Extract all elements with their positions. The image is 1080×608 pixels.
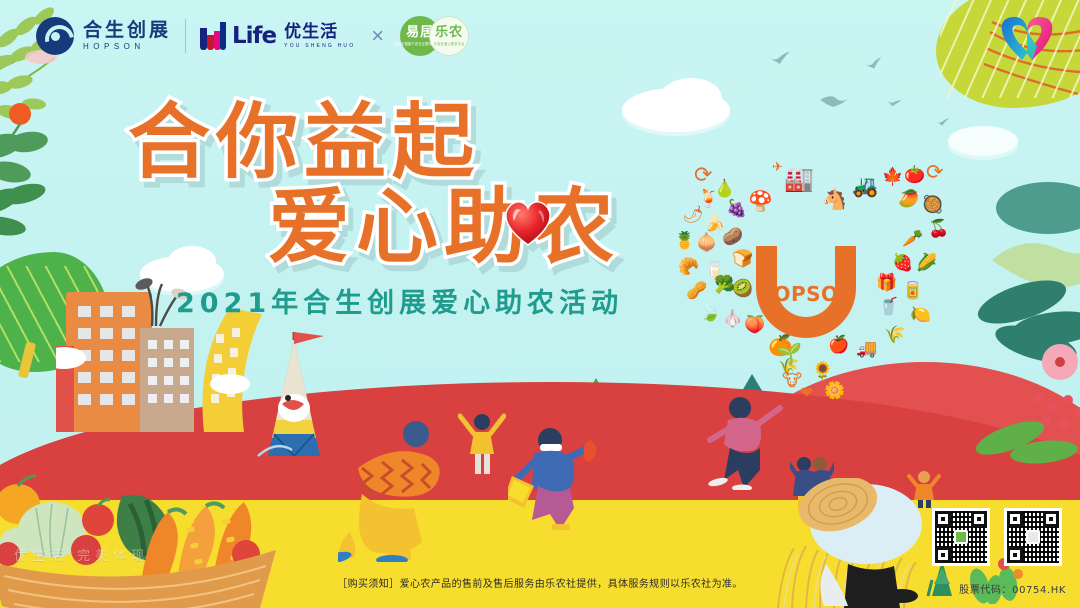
icon-strawberry: 🍓 bbox=[892, 254, 913, 271]
logo-ulife[interactable]: Life 优生活 YOU SHENG HUO bbox=[200, 22, 355, 50]
icon-tomato: 🍅 bbox=[904, 166, 925, 183]
icon-heart-small: ❤ bbox=[800, 386, 813, 402]
icon-leaf: 🍃 bbox=[700, 304, 721, 321]
poster-subtitle: 2021年合生创展爱心助农活动 bbox=[176, 281, 623, 320]
icon-rooster: 🐴 bbox=[822, 190, 847, 210]
purchase-notice: ［购买须知］爱心农产品的售前及售后服务由乐农社提供，具体服务规则以乐农社为准。 bbox=[0, 575, 1080, 590]
icon-chili: 🌶 bbox=[682, 206, 704, 223]
icon-basket: 🥫 bbox=[902, 282, 923, 299]
qr-center-logo bbox=[954, 530, 968, 544]
qr-code-ulife[interactable] bbox=[1004, 508, 1062, 566]
hopson-name-en: HOPSON bbox=[83, 43, 171, 51]
bird-icon bbox=[817, 90, 850, 109]
icon-potato: 🥔 bbox=[722, 228, 743, 245]
icon-potted-plant: 🌱 bbox=[776, 344, 802, 365]
icon-broccoli: 🥦 bbox=[714, 276, 735, 293]
icon-grapes: 🍇 bbox=[726, 200, 747, 217]
brand-logo-bar: 合生创展 HOPSON Life 优生活 YOU SHENG HUO × 易居 … bbox=[36, 16, 469, 56]
icon-acorn: 🥭 bbox=[898, 190, 919, 207]
charity-ribbon-heart-icon bbox=[996, 12, 1058, 68]
person-running-orange bbox=[338, 412, 468, 562]
person-cheering-yellow bbox=[458, 410, 506, 476]
cloud-icon bbox=[660, 78, 722, 118]
icon-tractor: 🚜 bbox=[852, 176, 878, 197]
festival-tent bbox=[238, 330, 348, 460]
produce-heart-logo: ⟳ 🍐 🍄 🍹 🍇 🍌 🌶 🍍 🧅 🥔 🍞 🥐 🥛 🥜 🥝 🥦 🍃 🧄 🍑 🍊 … bbox=[660, 158, 940, 408]
icon-windmill: 🏭 bbox=[784, 168, 814, 192]
right-leaf-cluster-decor bbox=[952, 176, 1080, 476]
icon-spiral: ⟳ bbox=[694, 164, 712, 186]
icon-onion: 🧅 bbox=[696, 234, 717, 251]
person-running-blue bbox=[508, 424, 604, 534]
hopson-horseshoe-logo: HOPSON bbox=[756, 246, 856, 338]
hopson-spiral-icon bbox=[36, 17, 74, 55]
icon-flower: 🌼 bbox=[824, 382, 845, 399]
cross-icon: × bbox=[371, 23, 384, 49]
stock-code: 股票代码：00754.HK bbox=[959, 581, 1066, 596]
title-line-1: 合你益起 bbox=[128, 104, 623, 183]
icon-cherry: 🍒 bbox=[928, 220, 949, 237]
title-line-2: 爱心助农 bbox=[268, 189, 623, 268]
person-dancing-pink bbox=[706, 394, 786, 490]
icon-lemon: 🍋 bbox=[910, 306, 931, 323]
lenong-sublabel: 乐农社爱心助农平台 bbox=[434, 41, 465, 46]
hopson-heart-wordmark: HOPSON bbox=[734, 282, 878, 306]
qr-center-logo bbox=[1026, 530, 1040, 544]
icon-wheelbarrow: 🚚 bbox=[856, 340, 877, 357]
icon-pineapple: 🍍 bbox=[674, 232, 695, 249]
icon-airplane-seed: ✈ bbox=[772, 160, 783, 173]
icon-gift: 🎁 bbox=[876, 274, 897, 291]
logo-hopson[interactable]: 合生创展 HOPSON bbox=[36, 17, 171, 55]
icon-maple-leaf: 🍁 bbox=[882, 168, 903, 185]
icon-garlic: 🧄 bbox=[722, 310, 743, 327]
red-heart-icon bbox=[500, 195, 556, 247]
logo-divider bbox=[185, 19, 186, 53]
qr-code-lenongshe[interactable] bbox=[932, 508, 990, 566]
cloud-icon bbox=[948, 126, 1018, 156]
hopson-name-cn: 合生创展 bbox=[83, 21, 171, 40]
ulife-u-icon bbox=[200, 22, 226, 50]
bird-icon bbox=[934, 117, 951, 127]
title-line-2-text: 爱心助农 bbox=[268, 180, 620, 275]
lenong-label: 乐农 bbox=[435, 26, 463, 39]
logo-yiju-lenong[interactable]: 易居 易居中国旗下农业互联网服务平台 乐农 乐农社爱心助农平台 bbox=[400, 16, 469, 56]
ulife-wordmark: Life bbox=[232, 23, 276, 49]
icon-carrot: 🥕 bbox=[902, 230, 923, 247]
qr-code-group bbox=[932, 508, 1062, 566]
icon-shell: 🥘 bbox=[922, 196, 943, 213]
ulife-pinyin: YOU SHENG HUO bbox=[284, 44, 355, 49]
icon-peanut: 🥜 bbox=[686, 282, 707, 299]
icon-jar: 🥤 bbox=[878, 298, 899, 315]
promo-poster: 合生创展 HOPSON Life 优生活 YOU SHENG HUO × 易居 … bbox=[0, 0, 1080, 608]
icon-corn: 🌽 bbox=[916, 254, 937, 271]
icon-sunflower: 🌻 bbox=[812, 362, 833, 379]
icon-spiral-right: ⟳ bbox=[926, 162, 944, 183]
poster-title-block: 合你益起 爱心助农 2021年合生创展爱心助农活动 bbox=[128, 104, 623, 320]
icon-mushroom: 🍄 bbox=[748, 192, 773, 212]
icon-bread: 🥐 bbox=[678, 258, 699, 275]
icon-apple: 🍎 bbox=[828, 336, 849, 353]
lenong-badge: 乐农 乐农社爱心助农平台 bbox=[429, 16, 469, 56]
icon-wheat-right: 🌾 bbox=[884, 326, 905, 343]
icon-sweet-potato: 🍞 bbox=[732, 250, 753, 267]
ulife-name-cn: 优生活 bbox=[284, 24, 355, 41]
watermark-text: 优生活 完美体现 bbox=[14, 545, 149, 564]
